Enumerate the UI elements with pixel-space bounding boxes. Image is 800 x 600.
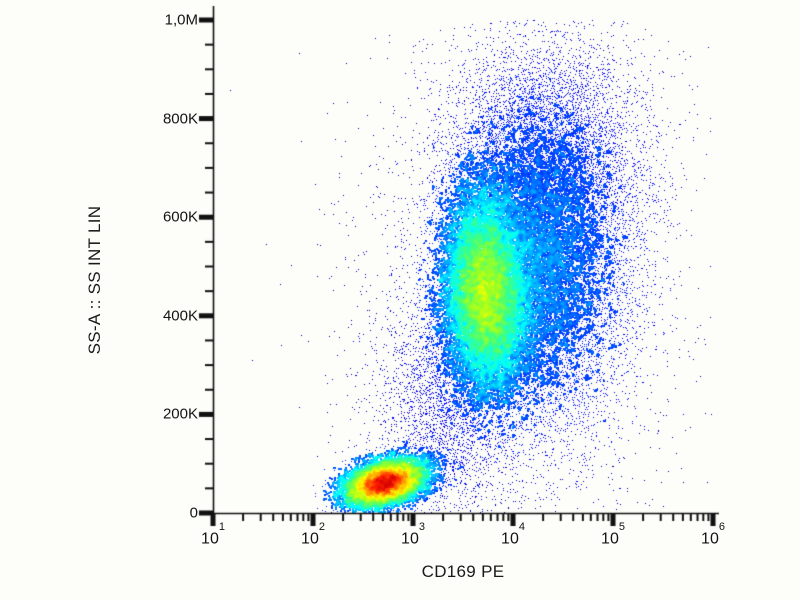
flow-cytometry-plot-page: SS-A :: SS INT LIN CD169 PE 0200K400K600… xyxy=(0,0,800,600)
y-tick-label-5: 1,0M xyxy=(128,12,198,29)
y-tick-label-4: 800K xyxy=(128,110,198,127)
x-tick-label-0: 101 xyxy=(201,528,225,548)
x-tick-label-1: 102 xyxy=(301,528,325,548)
x-tick-label-5: 106 xyxy=(701,528,725,548)
y-tick-label-3: 600K xyxy=(128,209,198,226)
x-tick-label-2: 103 xyxy=(401,528,425,548)
y-tick-label-0: 0 xyxy=(128,505,198,522)
y-tick-label-1: 200K xyxy=(128,406,198,423)
y-axis-title: SS-A :: SS INT LIN xyxy=(80,20,110,540)
scatter-plot-canvas xyxy=(0,0,800,600)
x-axis-title: CD169 PE xyxy=(213,562,713,582)
y-axis-title-label: SS-A :: SS INT LIN xyxy=(85,206,105,355)
x-tick-label-4: 105 xyxy=(601,528,625,548)
y-tick-label-2: 400K xyxy=(128,307,198,324)
x-tick-label-3: 104 xyxy=(501,528,525,548)
